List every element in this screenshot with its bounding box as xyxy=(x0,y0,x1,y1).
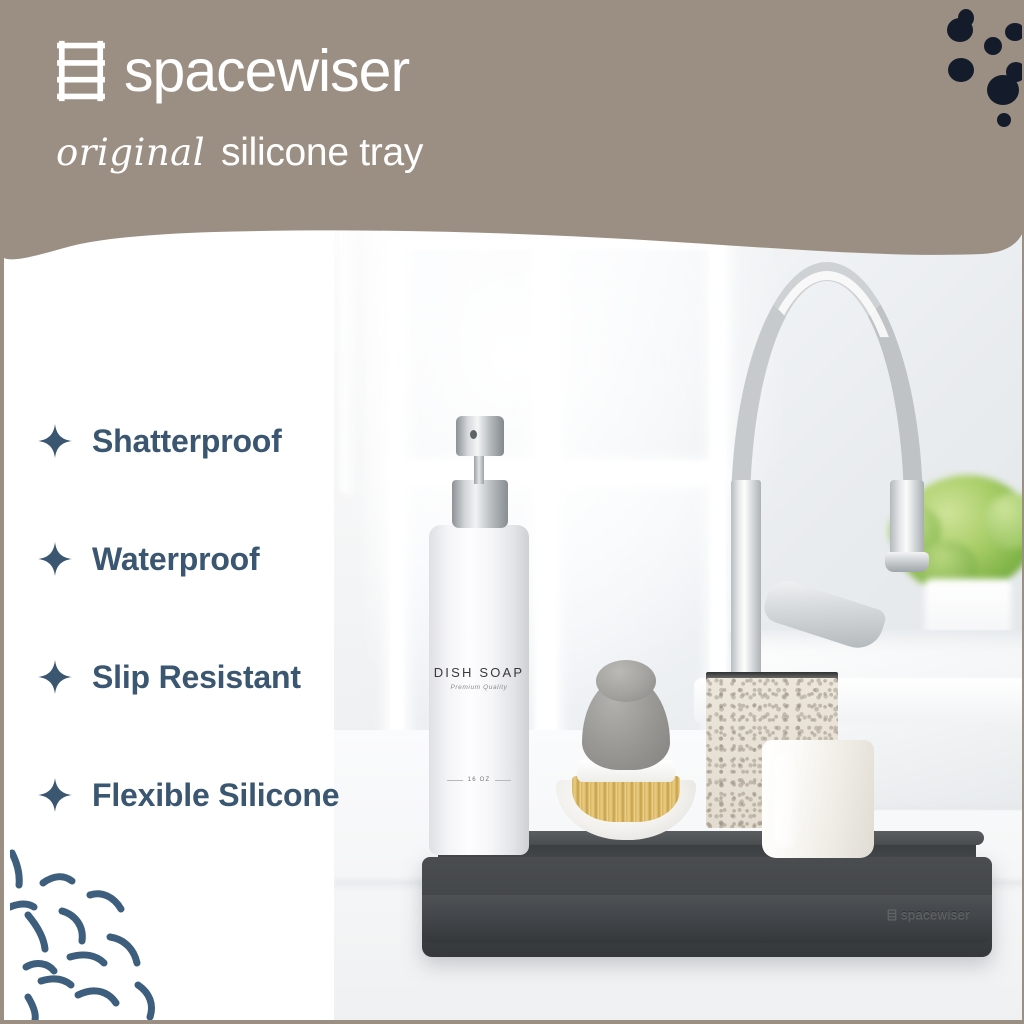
faucet-column xyxy=(731,480,761,690)
faucet-spout xyxy=(890,480,924,558)
pump-head xyxy=(456,416,504,456)
ladder-shelf-icon xyxy=(56,40,106,102)
ladder-shelf-icon xyxy=(887,909,897,921)
feature-label: Waterproof xyxy=(92,541,259,578)
sparkle-star-icon xyxy=(38,542,72,576)
cup-highlight xyxy=(774,752,800,848)
feature-label: Flexible Silicone xyxy=(92,777,339,814)
corner-swirl-decoration xyxy=(10,845,225,1020)
feature-item: Shatterproof xyxy=(38,382,458,500)
feature-item: Slip Resistant xyxy=(38,618,458,736)
pump-collar xyxy=(452,480,508,528)
tray-emboss-text: spacewiser xyxy=(901,907,970,922)
sparkle-star-icon xyxy=(38,424,72,458)
pump-nozzle xyxy=(470,430,477,439)
sparkle-star-icon xyxy=(38,778,72,812)
silicone-tray: spacewiser xyxy=(422,835,992,970)
brand-name: spacewiser xyxy=(124,42,409,101)
brush-handle-top xyxy=(596,660,656,702)
brand-lockup: spacewiser xyxy=(56,40,409,102)
feature-label: Slip Resistant xyxy=(92,659,301,696)
feature-item: Flexible Silicone xyxy=(38,736,458,854)
sparkle-star-icon xyxy=(38,660,72,694)
feature-list: Shatterproof Waterproof Slip Resistant F… xyxy=(38,382,458,854)
product-marketing-image: spacewiser DISH SOAP Premium Quality 16 … xyxy=(0,0,1024,1024)
tagline-script-word: original xyxy=(56,131,205,174)
feature-item: Waterproof xyxy=(38,500,458,618)
faucet-aerator xyxy=(885,552,929,572)
tray-emboss-logo: spacewiser xyxy=(887,907,970,922)
feature-label: Shatterproof xyxy=(92,423,282,460)
tagline: original silicone tray xyxy=(56,131,423,175)
tagline-product-name: silicone tray xyxy=(221,131,423,175)
